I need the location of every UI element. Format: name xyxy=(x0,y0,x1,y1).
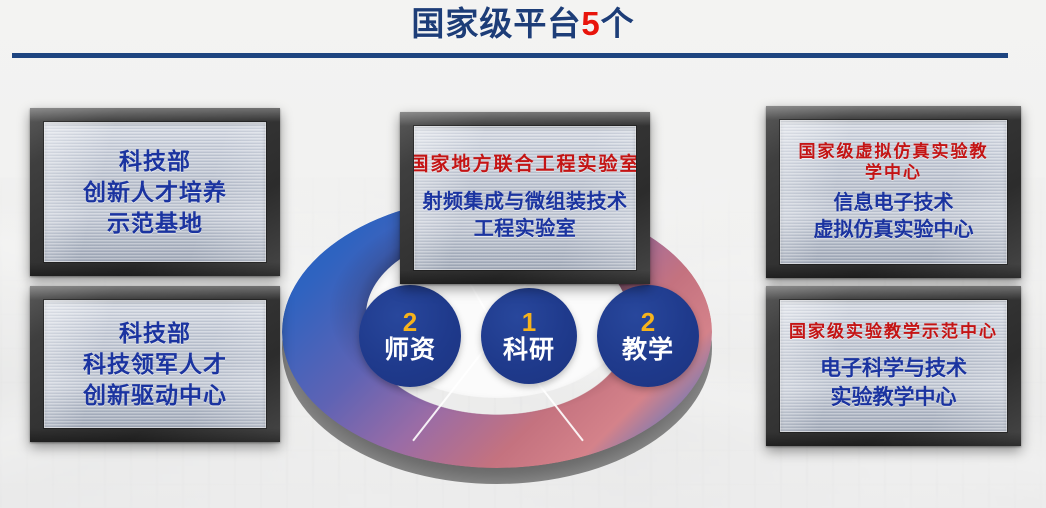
circle-jiaoxue[interactable]: 2 教学 xyxy=(597,285,699,387)
page-title-main: 国家级平台 xyxy=(411,5,581,42)
page-title-unit: 个 xyxy=(601,5,635,42)
plaque-plate: 国家级实验教学示范中心 电子科学与技术 实验教学中心 xyxy=(780,300,1007,432)
circle-keyan-number: 1 xyxy=(522,309,536,335)
plaque-top-right[interactable]: 国家级虚拟仿真实验教学中心 信息电子技术 虚拟仿真实验中心 xyxy=(766,106,1021,278)
plaque-heading: 国家地方联合工程实验室 xyxy=(414,153,636,177)
plaque-center[interactable]: 国家地方联合工程实验室 射频集成与微组装技术 工程实验室 xyxy=(400,112,650,284)
plaque-line: 科技部 xyxy=(119,146,191,177)
title-underline xyxy=(12,53,1008,58)
plaque-line: 电子科学与技术 xyxy=(820,354,967,383)
plaque-line: 工程实验室 xyxy=(474,216,577,243)
plaque-line: 实验教学中心 xyxy=(831,383,957,412)
circle-keyan-label: 科研 xyxy=(503,336,555,364)
plaque-heading: 国家级虚拟仿真实验教学中心 xyxy=(794,141,994,183)
plaque-bottom-right[interactable]: 国家级实验教学示范中心 电子科学与技术 实验教学中心 xyxy=(766,286,1021,446)
page-title-count: 5 xyxy=(581,5,600,42)
circle-shizi[interactable]: 2 师资 xyxy=(359,285,461,387)
plaque-line: 示范基地 xyxy=(107,208,203,239)
slide-canvas: 国家级平台5个 2 师资 1 科研 2 教学 科技部 创新人才培养 示范基地 xyxy=(0,0,1046,508)
plaque-line: 科技领军人才 xyxy=(83,349,227,380)
plaque-bottom-left[interactable]: 科技部 科技领军人才 创新驱动中心 xyxy=(30,286,280,442)
circle-shizi-number: 2 xyxy=(403,309,417,335)
plaque-line: 射频集成与微组装技术 xyxy=(423,189,628,216)
plaque-top-left[interactable]: 科技部 创新人才培养 示范基地 xyxy=(30,108,280,276)
plaque-plate: 国家级虚拟仿真实验教学中心 信息电子技术 虚拟仿真实验中心 xyxy=(780,120,1007,264)
plaque-plate: 国家地方联合工程实验室 射频集成与微组装技术 工程实验室 xyxy=(414,126,636,270)
circle-jiaoxue-number: 2 xyxy=(641,309,655,335)
plaque-plate: 科技部 创新人才培养 示范基地 xyxy=(44,122,266,262)
circle-jiaoxue-label: 教学 xyxy=(622,336,674,364)
plaque-line: 科技部 xyxy=(119,318,191,349)
circle-shizi-label: 师资 xyxy=(384,336,436,364)
plaque-plate: 科技部 科技领军人才 创新驱动中心 xyxy=(44,300,266,428)
plaque-line: 创新驱动中心 xyxy=(83,380,227,411)
circle-keyan[interactable]: 1 科研 xyxy=(481,288,577,384)
plaque-line: 信息电子技术 xyxy=(834,190,954,217)
plaque-line: 虚拟仿真实验中心 xyxy=(814,217,974,244)
page-title: 国家级平台5个 xyxy=(0,4,1046,44)
plaque-heading: 国家级实验教学示范中心 xyxy=(789,321,998,342)
plaque-line: 创新人才培养 xyxy=(83,177,227,208)
